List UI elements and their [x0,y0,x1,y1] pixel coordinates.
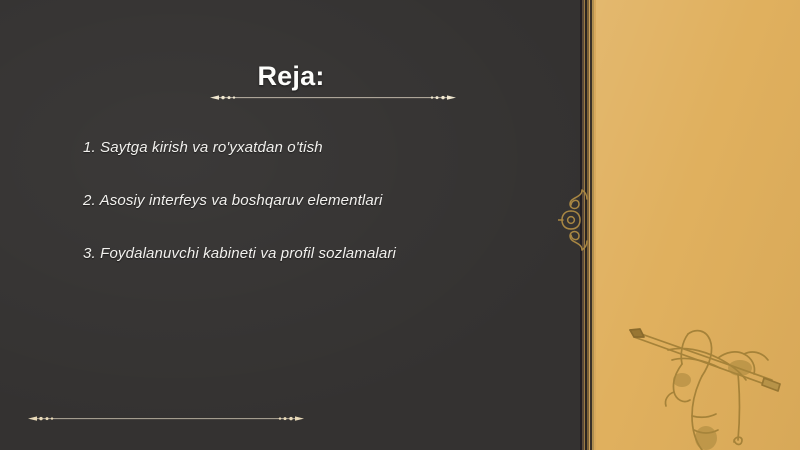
title-block: Reja: [0,60,582,92]
agenda-list: 1. Saytga kirish va ro'yxatdan o'tish 2.… [83,138,553,264]
presentation-slide: Reja: 1. Saytga kirish va ro'yxatdan o't… [0,0,800,450]
page-title: Reja: [257,60,324,92]
list-item: 2. Asosiy interfeys va boshqaruv element… [83,191,553,211]
bottom-divider-line [28,414,304,423]
title-divider-line [210,93,456,102]
list-item: 1. Saytga kirish va ro'yxatdan o'tish [83,138,553,158]
list-item: 3. Foydalanuvchi kabineti va profil sozl… [83,244,553,264]
gold-background-panel [596,0,800,450]
